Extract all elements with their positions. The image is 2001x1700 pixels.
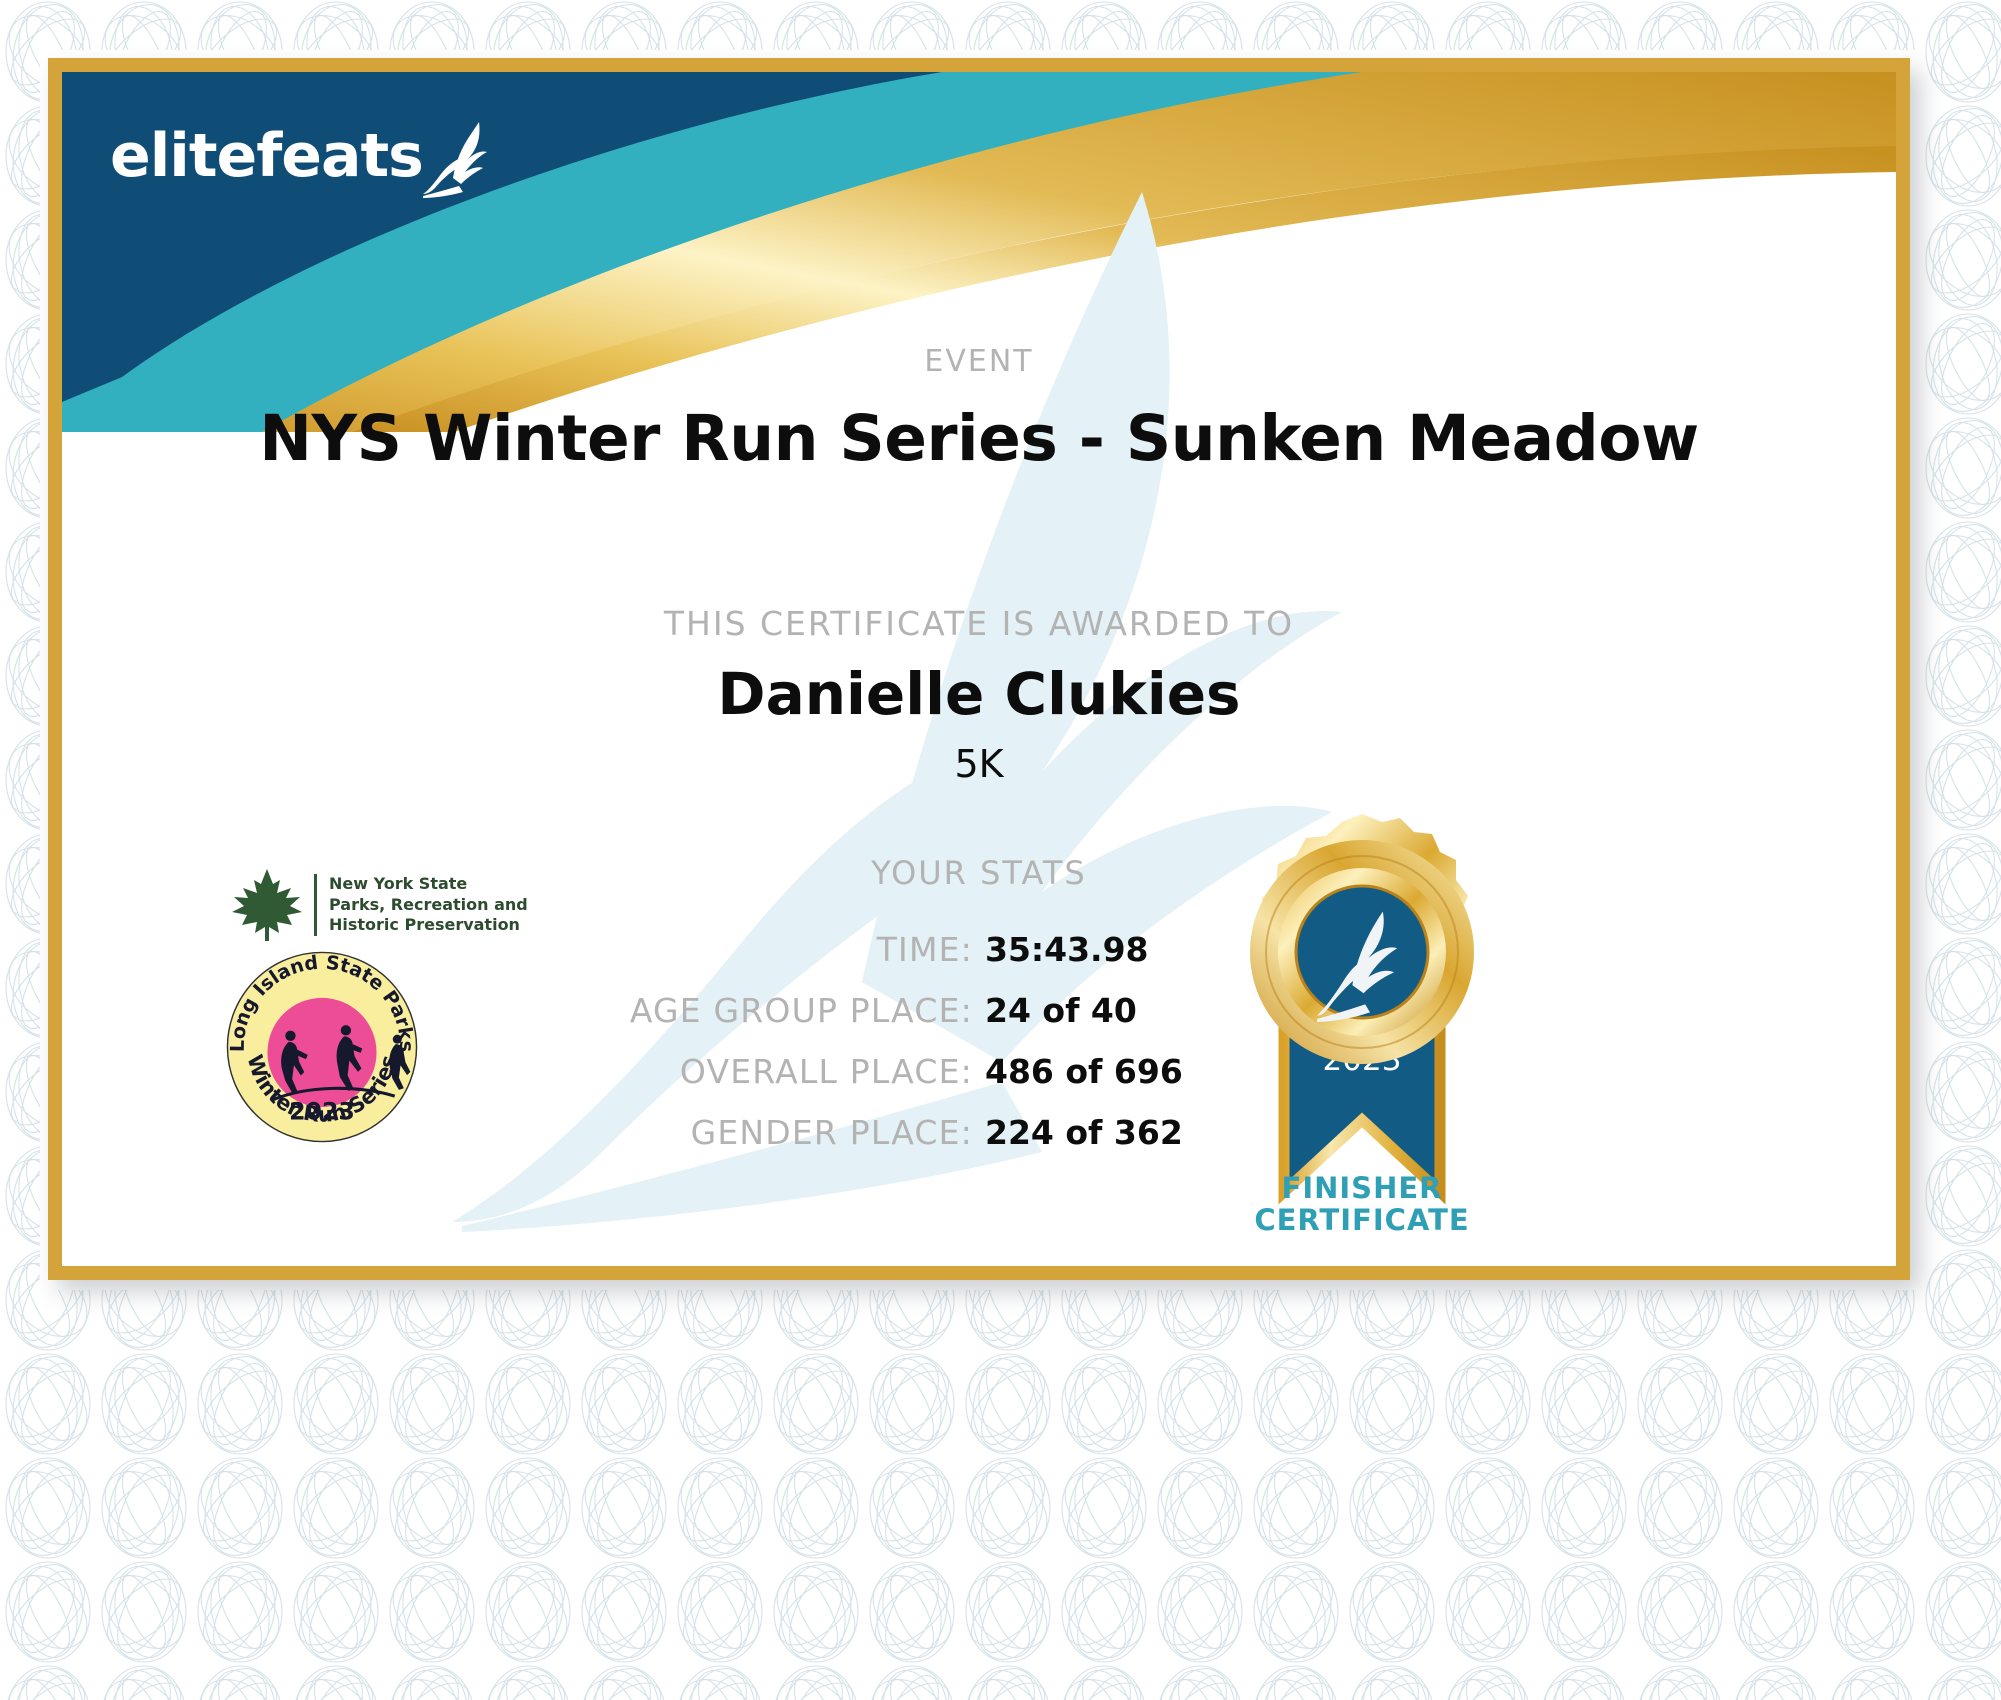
recipient-name: Danielle Clukies	[62, 660, 1896, 728]
nys-parks-logo: New York State Parks, Recreation and His…	[230, 867, 528, 943]
stat-label-time: TIME:	[553, 930, 973, 969]
stat-label-gender-place: GENDER PLACE:	[553, 1113, 973, 1152]
event-title: NYS Winter Run Series - Sunken Meadow	[62, 402, 1896, 475]
certificate-frame: elitefeats EVENT	[48, 58, 1910, 1280]
nys-logo-line-2: Parks, Recreation and	[329, 895, 528, 915]
awarded-to-label: THIS CERTIFICATE IS AWARDED TO	[62, 604, 1896, 643]
finisher-caption-line-2: CERTIFICATE	[1202, 1204, 1522, 1236]
certificate-body: elitefeats EVENT	[62, 72, 1896, 1266]
certificate-content: EVENT NYS Winter Run Series - Sunken Mea…	[62, 72, 1896, 1266]
finisher-certificate-caption: FINISHER CERTIFICATE	[1202, 1172, 1522, 1237]
finisher-medal: 2023	[1212, 802, 1512, 1222]
maple-leaf-icon	[230, 867, 304, 943]
event-label: EVENT	[62, 344, 1896, 379]
certificate-page: elitefeats EVENT	[0, 0, 2001, 1700]
stat-label-age-group-place: AGE GROUP PLACE:	[553, 991, 973, 1030]
nys-parks-logo-text: New York State Parks, Recreation and His…	[314, 874, 528, 935]
finisher-caption-line-1: FINISHER	[1202, 1172, 1522, 1204]
stat-label-overall-place: OVERALL PLACE:	[553, 1052, 973, 1091]
nys-logo-line-1: New York State	[329, 874, 528, 894]
race-distance: 5K	[62, 742, 1896, 786]
winter-run-series-badge: 2023 Long Island State Parks Winter Run …	[222, 947, 422, 1147]
nys-logo-line-3: Historic Preservation	[329, 915, 528, 935]
